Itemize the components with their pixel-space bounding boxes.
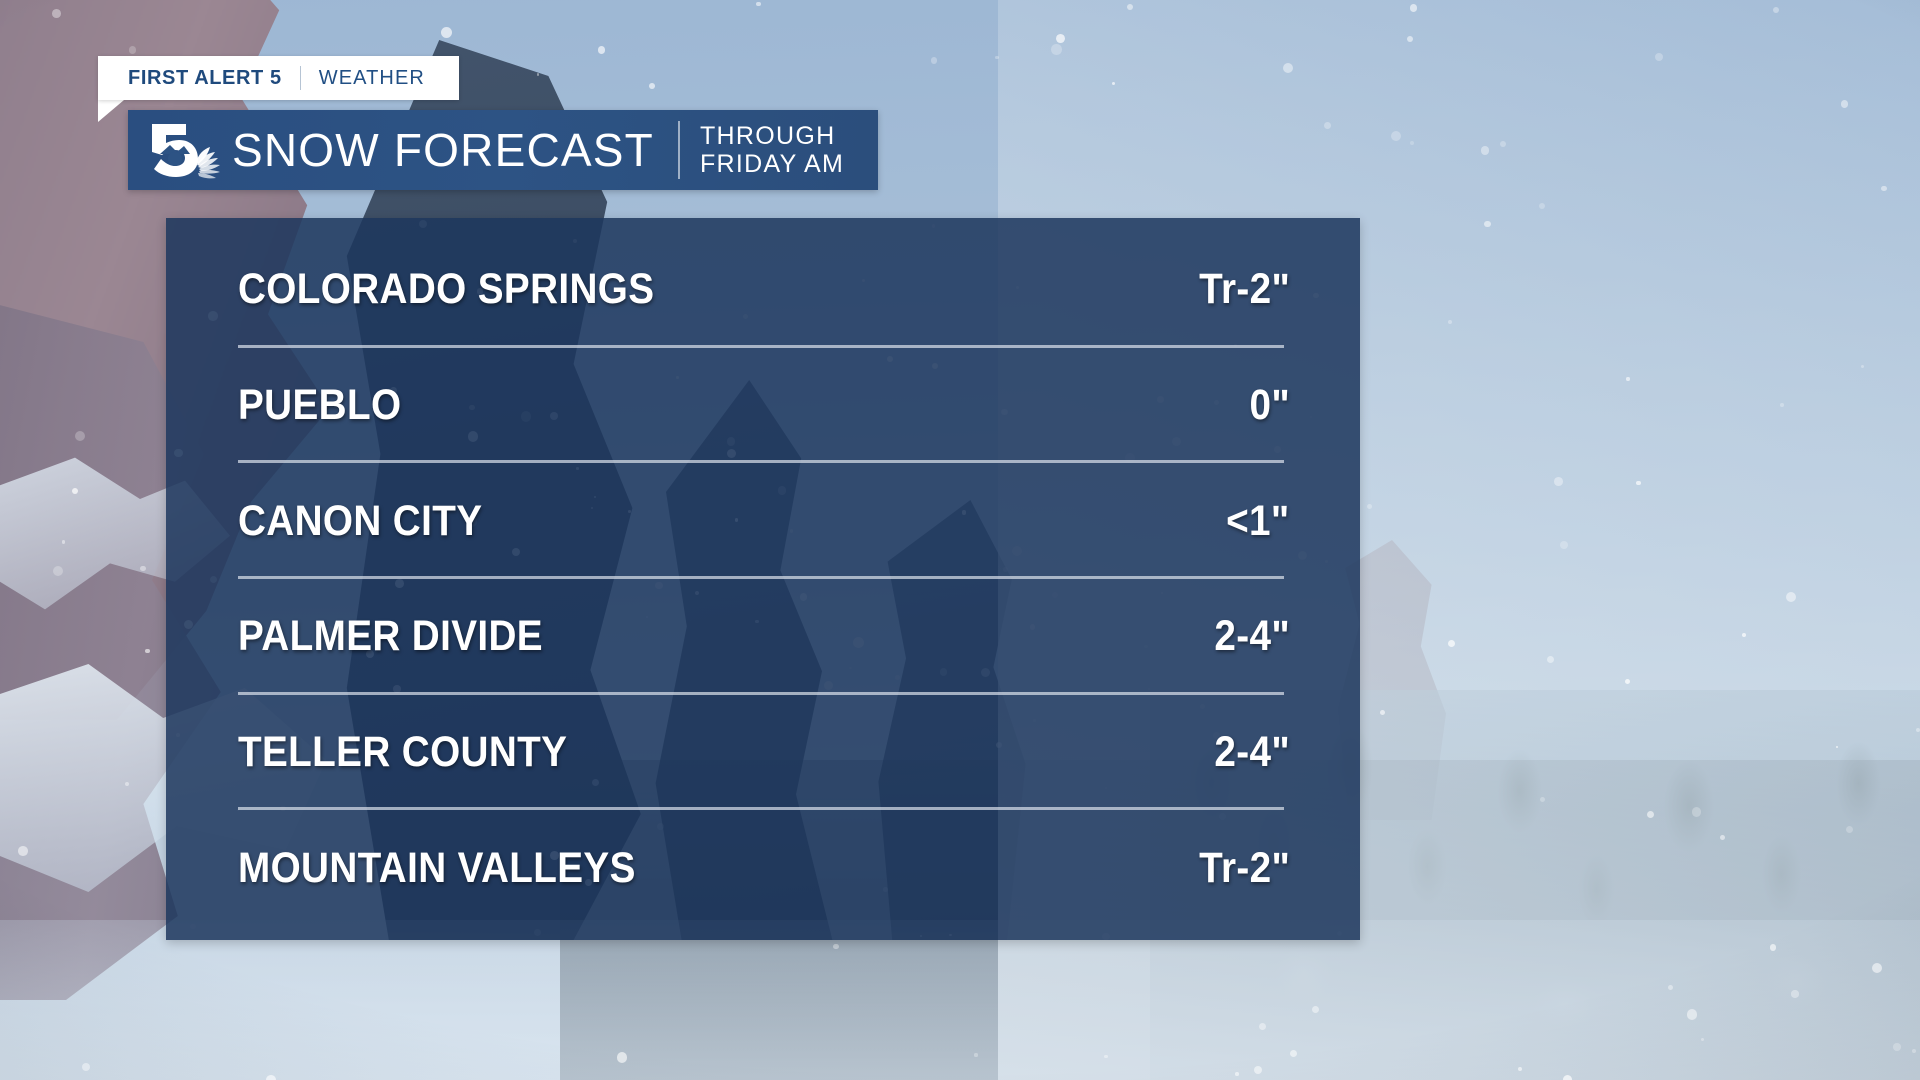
forecast-amount: <1" — [1226, 497, 1290, 546]
forecast-row: COLORADO SPRINGS Tr-2" — [238, 232, 1290, 348]
page-title: SNOW FORECAST — [232, 123, 654, 177]
brand-name: FIRST ALERT 5 — [128, 67, 282, 90]
forecast-amount: Tr-2" — [1199, 265, 1290, 314]
forecast-row: TELLER COUNTY 2-4" — [238, 695, 1290, 811]
forecast-row: PUEBLO 0" — [238, 348, 1290, 464]
title-subtitle: THROUGH FRIDAY AM — [700, 122, 844, 178]
brand-divider — [300, 66, 301, 90]
forecast-amount: 0" — [1249, 381, 1290, 430]
forecast-city: PALMER DIVIDE — [238, 612, 543, 661]
title-subtitle-line2: FRIDAY AM — [700, 150, 844, 178]
weather-graphic-stage: FIRST ALERT 5 WEATHER — [0, 0, 1920, 1080]
forecast-row: PALMER DIVIDE 2-4" — [238, 579, 1290, 695]
title-subtitle-line1: THROUGH — [700, 122, 844, 150]
nbc5-peacock-logo-icon — [140, 120, 226, 180]
forecast-row: CANON CITY <1" — [238, 463, 1290, 579]
forecast-city: CANON CITY — [238, 497, 482, 546]
forecast-amount: Tr-2" — [1199, 844, 1290, 893]
forecast-amount: 2-4" — [1214, 612, 1290, 661]
title-divider — [678, 121, 680, 179]
forecast-city: COLORADO SPRINGS — [238, 265, 654, 314]
brand-subtitle: WEATHER — [319, 67, 425, 90]
forecast-city: TELLER COUNTY — [238, 728, 567, 777]
forecast-row: MOUNTAIN VALLEYS Tr-2" — [238, 810, 1290, 926]
title-bar: SNOW FORECAST THROUGH FRIDAY AM — [128, 110, 878, 190]
forecast-city: PUEBLO — [238, 381, 401, 430]
forecast-city: MOUNTAIN VALLEYS — [238, 844, 636, 893]
forecast-amount: 2-4" — [1214, 728, 1290, 777]
snow-forecast-panel: COLORADO SPRINGS Tr-2" PUEBLO 0" CANON C… — [166, 218, 1360, 940]
brand-tab: FIRST ALERT 5 WEATHER — [98, 56, 459, 100]
